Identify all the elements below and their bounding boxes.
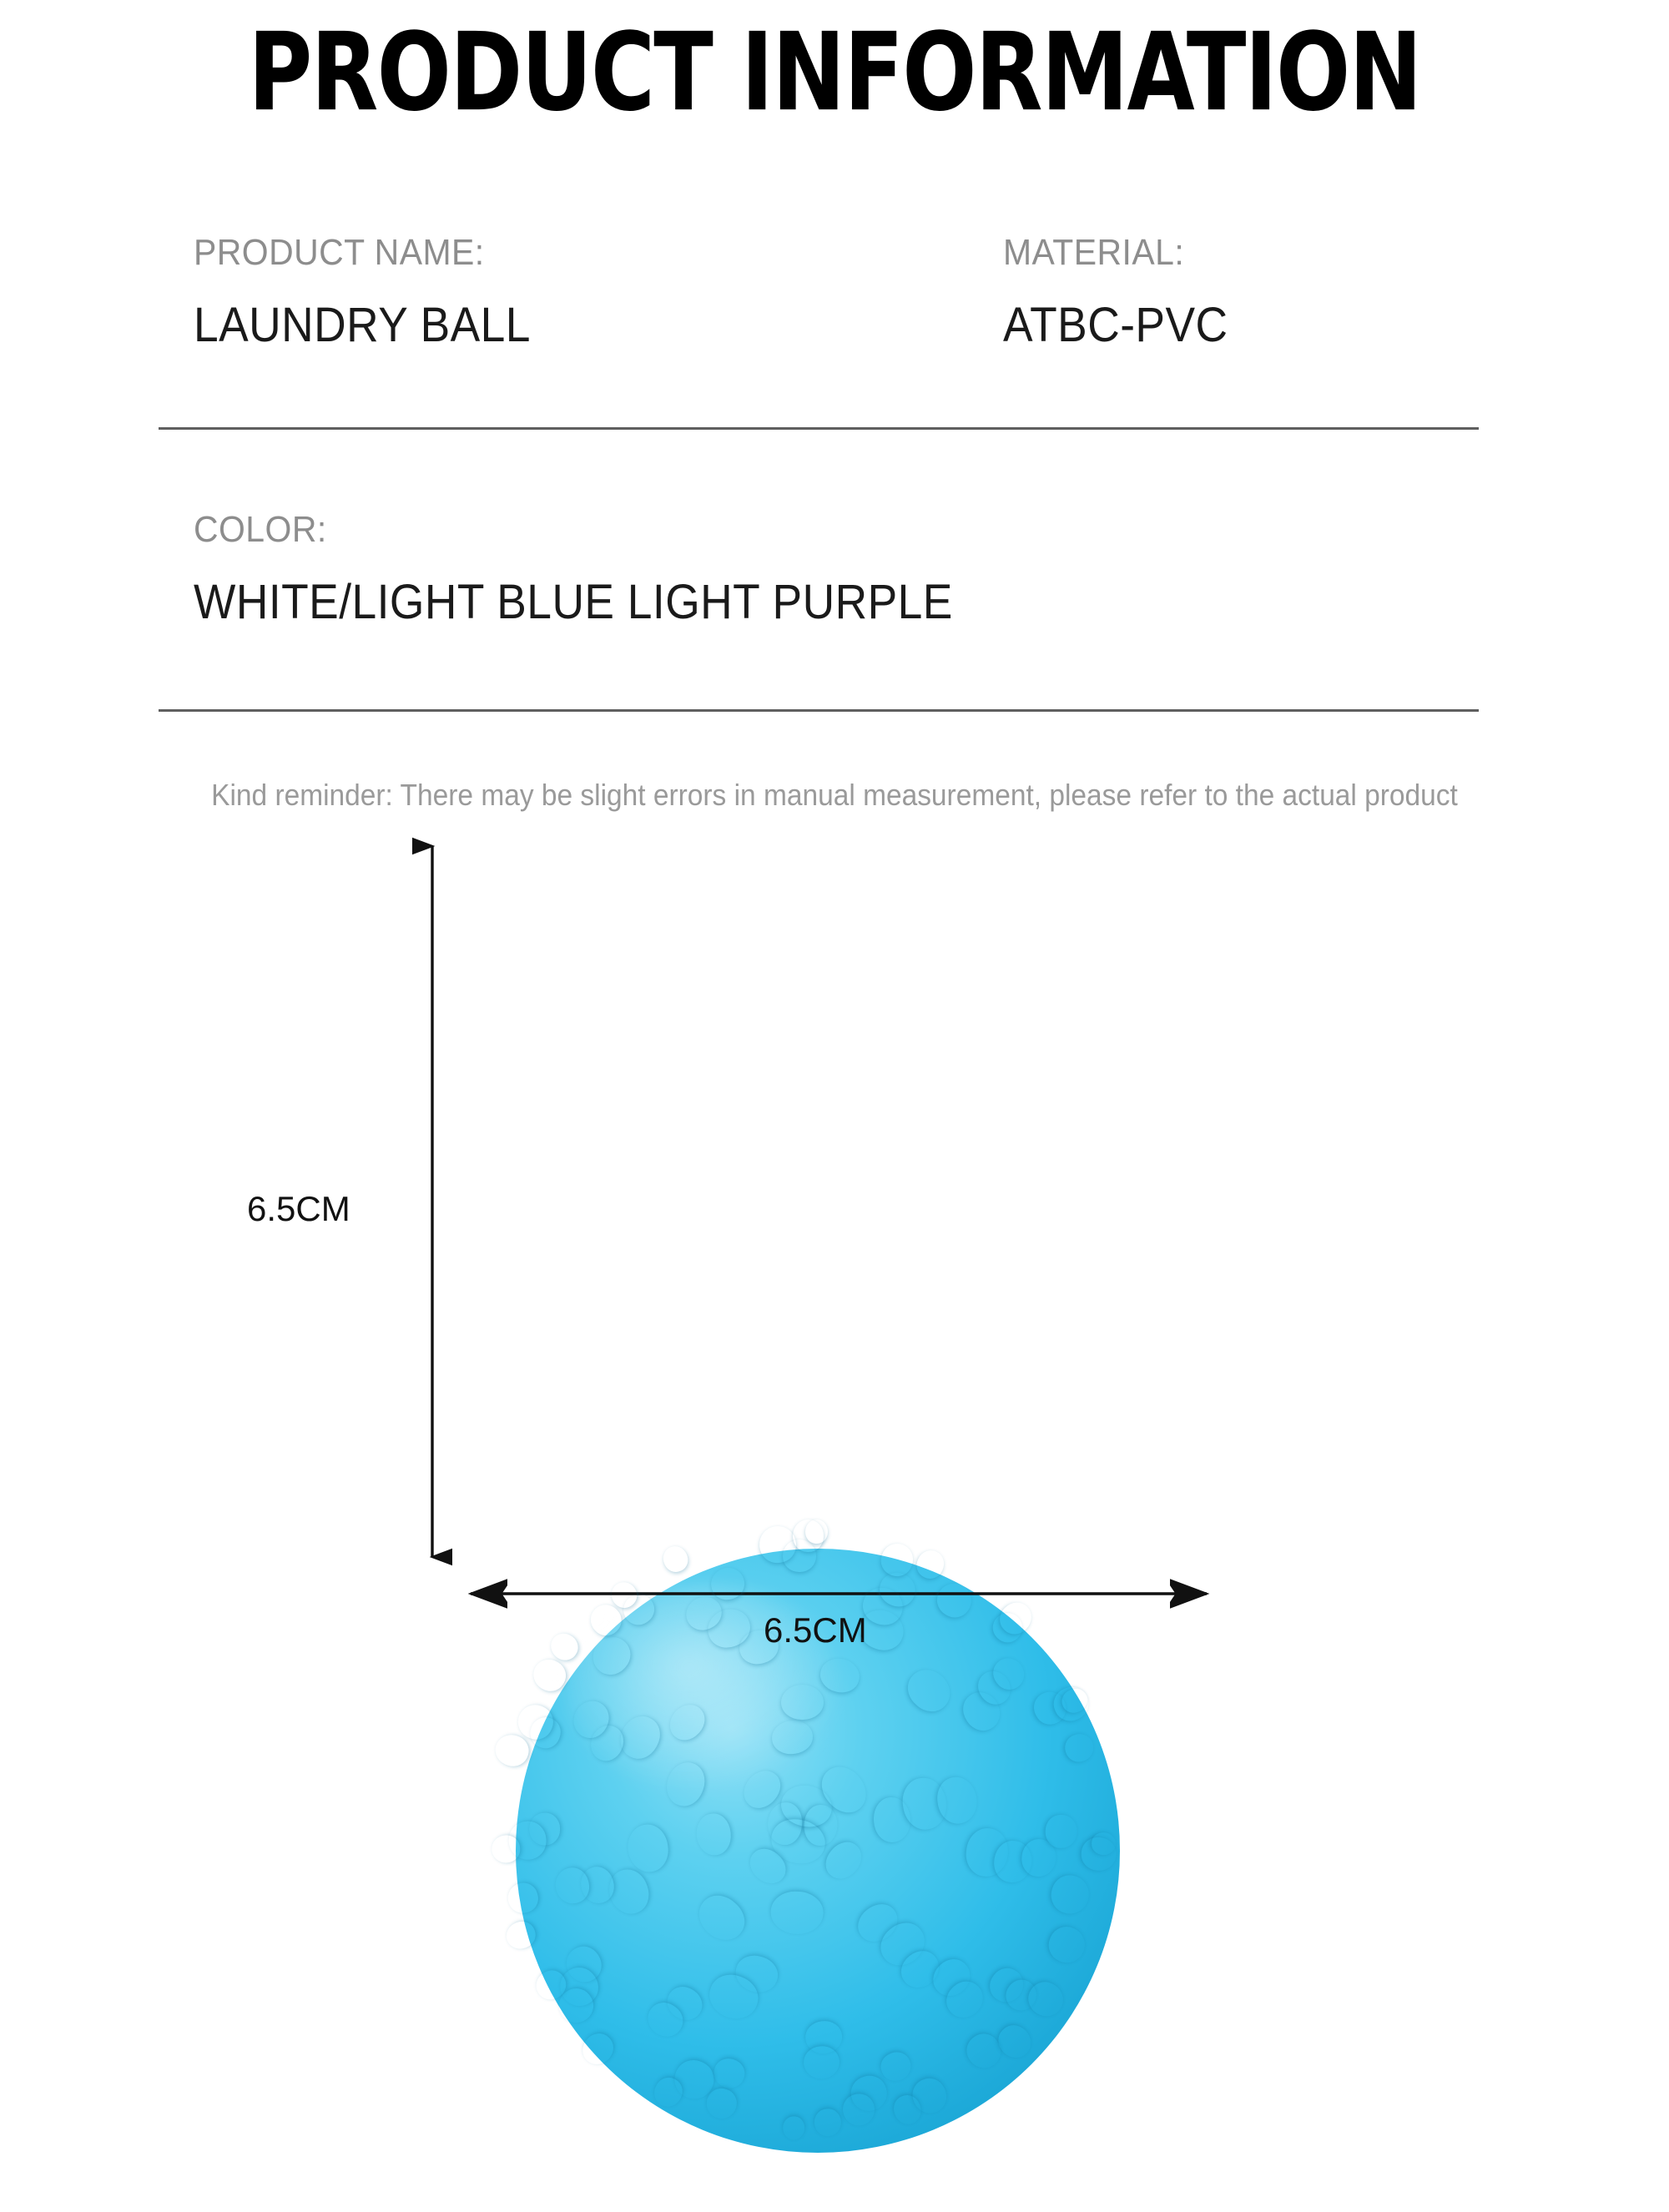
width-dimension-label: 6.5CM (764, 1610, 867, 1650)
kind-reminder-text: Kind reminder: There may be slight error… (58, 778, 1611, 813)
ball-nub (793, 1519, 824, 1552)
width-dimension-arrow (459, 1577, 1218, 1610)
color-value: WHITE/LIGHT BLUE LIGHT PURPLE (194, 574, 953, 630)
page-title: PRODUCT INFORMATION (117, 18, 1552, 126)
ball-nub (492, 1731, 532, 1770)
product-name-label: PRODUCT NAME: (194, 232, 485, 274)
ball-nub (659, 1543, 692, 1576)
ball-nub (805, 1519, 829, 1544)
product-information-page: PRODUCT INFORMATION PRODUCT NAME: LAUNDR… (0, 0, 1669, 1669)
material-value: ATBC-PVC (1003, 297, 1228, 353)
height-dimension-label: 6.5CM (247, 1189, 350, 1229)
color-label: COLOR: (194, 509, 327, 551)
product-photo-area (0, 826, 1669, 1669)
product-name-value: LAUNDRY BALL (194, 297, 531, 353)
material-label: MATERIAL: (1003, 232, 1184, 274)
height-dimension-arrow (412, 834, 452, 1569)
divider-bottom (159, 709, 1479, 712)
divider-top (159, 427, 1479, 430)
